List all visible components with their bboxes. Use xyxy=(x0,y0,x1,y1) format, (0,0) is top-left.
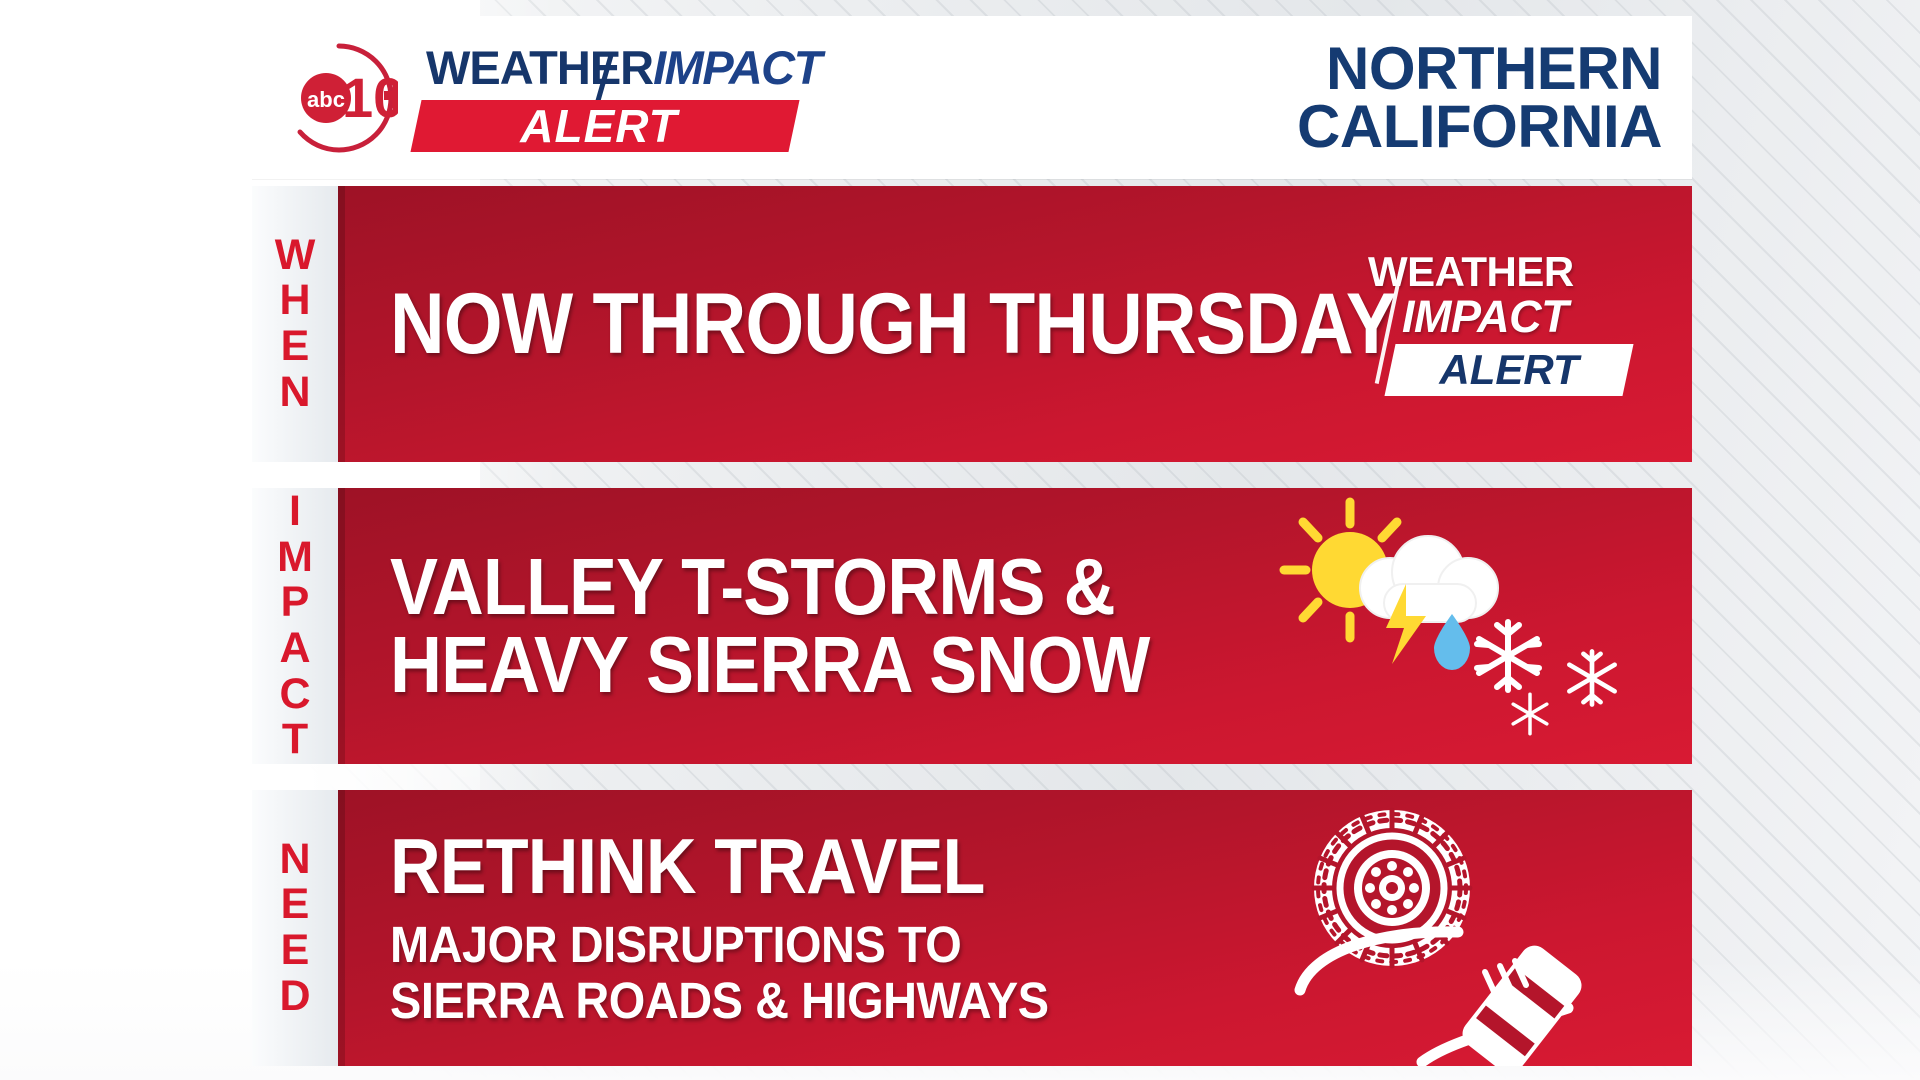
impact-text-block: VALLEY T-STORMS & HEAVY SIERRA SNOW xyxy=(338,548,1234,705)
row-label-strip-when: W H E N xyxy=(252,186,338,462)
impact-letter-5: C xyxy=(279,672,310,718)
logo-impact: IMPACT xyxy=(653,41,821,94)
card-header: abc 10 WEATHERIMPACT ALERT NORTHE xyxy=(252,16,1692,179)
alert-panel-need: RETHINK TRAVEL MAJOR DISRUPTIONS TO SIER… xyxy=(338,790,1692,1066)
alert-card: abc 10 WEATHERIMPACT ALERT NORTHE xyxy=(252,16,1692,1048)
need-letter-3: E xyxy=(281,928,310,974)
logo-line-weather-impact: WEATHERIMPACT xyxy=(426,44,821,91)
weather-impact-alert-logo: WEATHERIMPACT ALERT xyxy=(404,38,804,158)
row-label-strip-impact: I M P A C T xyxy=(252,488,338,764)
sun-thunderstorm-snow-icon xyxy=(1272,488,1692,764)
need-headline: RETHINK TRAVEL xyxy=(390,828,1034,904)
weather-impact-alert-badge-icon: WEATHER IMPACT ALERT xyxy=(1350,249,1650,399)
vertical-label-need: N E E D xyxy=(279,837,310,1019)
impact-headline-line-1: VALLEY T-STORMS & xyxy=(390,548,1149,626)
impact-letter-1: I xyxy=(289,489,301,535)
need-text-block: RETHINK TRAVEL MAJOR DISRUPTIONS TO SIER… xyxy=(338,828,1106,1029)
when-letter-3: E xyxy=(281,324,310,370)
when-headline: NOW THROUGH THURSDAY xyxy=(390,282,1395,366)
logo-weather-we: WE xyxy=(426,41,500,94)
brand-lockup: abc 10 WEATHERIMPACT ALERT xyxy=(252,38,804,158)
tire-chains-skidding-car-icon xyxy=(1272,790,1692,1066)
need-letter-1: N xyxy=(279,837,310,883)
when-letter-2: H xyxy=(279,278,310,324)
region-title: NORTHERN CALIFORNIA xyxy=(1297,40,1692,155)
badge-impact: IMPACT xyxy=(1402,294,1568,339)
logo-weather-ather: ATHER xyxy=(500,41,653,94)
alert-row-need: N E E D RETHINK TRAVEL MAJOR DISRUPTIONS… xyxy=(252,790,1692,1066)
impact-headline-line-2: HEAVY SIERRA SNOW xyxy=(390,626,1149,704)
svg-text:abc: abc xyxy=(307,87,345,112)
alert-row-impact: I M P A C T VALLEY T-STORMS & HEAVY SIER… xyxy=(252,488,1692,764)
when-letter-1: W xyxy=(275,233,316,279)
alert-panel-when: NOW THROUGH THURSDAY WEATHER IMPACT ALER… xyxy=(338,186,1692,462)
impact-letter-6: T xyxy=(282,717,308,763)
need-letter-2: E xyxy=(281,882,310,928)
need-letter-4: D xyxy=(279,974,310,1020)
logo-alert: ALERT xyxy=(404,98,794,154)
region-line-1: NORTHERN xyxy=(1297,40,1662,98)
region-line-2: CALIFORNIA xyxy=(1297,98,1662,156)
badge-alert: ALERT xyxy=(1390,344,1628,396)
impact-letter-3: P xyxy=(281,580,310,626)
vertical-label-impact: I M P A C T xyxy=(277,489,313,762)
when-letter-4: N xyxy=(279,370,310,416)
alert-row-when: W H E N NOW THROUGH THURSDAY WEATHER IMP… xyxy=(252,186,1692,462)
abc10-plus-logo-icon: abc 10 xyxy=(280,39,398,157)
impact-letter-4: A xyxy=(279,626,310,672)
need-subline-line-1: MAJOR DISRUPTIONS TO xyxy=(390,918,1049,972)
weather-alert-graphic: abc 10 WEATHERIMPACT ALERT NORTHE xyxy=(0,0,1920,1080)
vertical-label-when: W H E N xyxy=(275,233,316,415)
need-subline-line-2: SIERRA ROADS & HIGHWAYS xyxy=(390,974,1049,1028)
row-label-strip-need: N E E D xyxy=(252,790,338,1066)
impact-letter-2: M xyxy=(277,535,313,581)
alert-panel-impact: VALLEY T-STORMS & HEAVY SIERRA SNOW xyxy=(338,488,1692,764)
